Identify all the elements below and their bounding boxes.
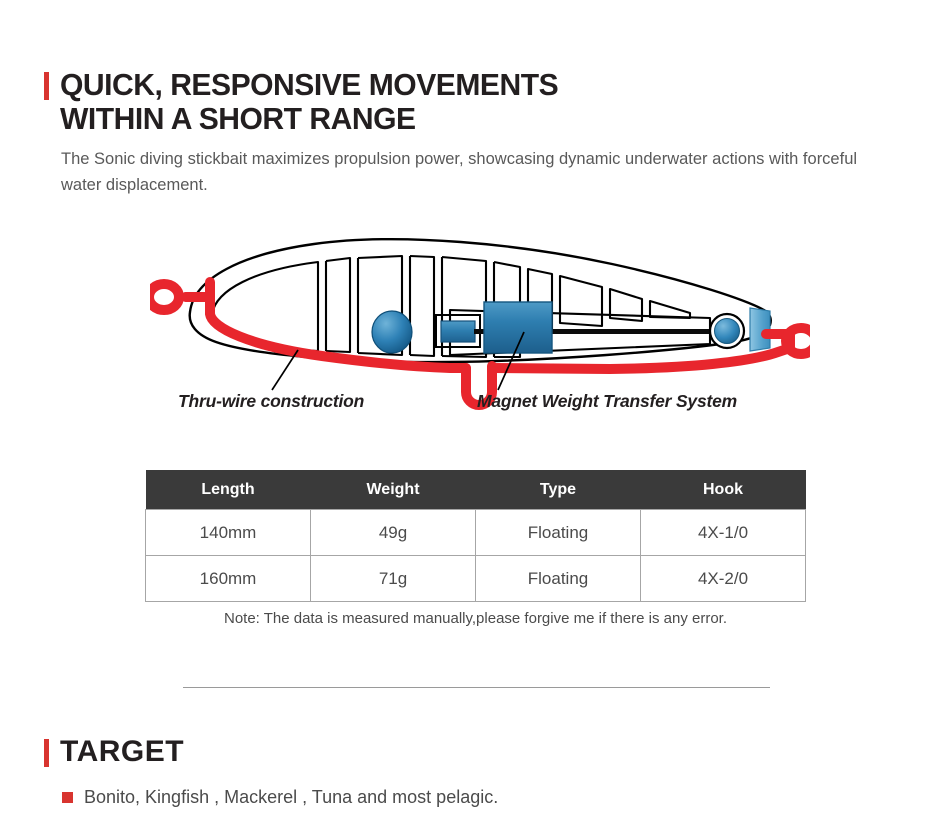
red-accent-bar (44, 739, 49, 767)
feature-subtitle: The Sonic diving stickbait maximizes pro… (61, 146, 861, 198)
red-accent-bar (44, 72, 49, 100)
callout-thru-wire-label: Thru-wire construction (178, 391, 364, 412)
column-header-length: Length (146, 470, 311, 510)
cell-hook: 4X-2/0 (641, 556, 806, 602)
cell-length: 160mm (146, 556, 311, 602)
table-row: 140mm 49g Floating 4X-1/0 (146, 510, 806, 556)
callout-magnet-weight-label: Magnet Weight Transfer System (477, 391, 737, 412)
cell-type: Floating (476, 556, 641, 602)
target-heading: TARGET (44, 736, 184, 768)
table-header-row: Length Weight Type Hook (146, 470, 806, 510)
section-divider (183, 687, 770, 688)
target-species-text: Bonito, Kingfish , Mackerel , Tuna and m… (84, 787, 498, 808)
square-bullet-icon (62, 792, 73, 803)
table-row: 160mm 71g Floating 4X-2/0 (146, 556, 806, 602)
table-note: Note: The data is measured manually,plea… (145, 610, 806, 627)
list-item: Bonito, Kingfish , Mackerel , Tuna and m… (62, 787, 498, 808)
cell-length: 140mm (146, 510, 311, 556)
feature-heading: QUICK, RESPONSIVE MOVEMENTS WITHIN A SHO… (44, 68, 574, 136)
target-heading-text: TARGET (60, 736, 184, 768)
specifications-table: Length Weight Type Hook 140mm 49g Floati… (145, 470, 806, 602)
column-header-weight: Weight (311, 470, 476, 510)
target-species-list: Bonito, Kingfish , Mackerel , Tuna and m… (62, 787, 498, 808)
feature-heading-text: QUICK, RESPONSIVE MOVEMENTS WITHIN A SHO… (60, 68, 558, 136)
fixed-ball-weight (372, 311, 412, 353)
cell-weight: 49g (311, 510, 476, 556)
cell-hook: 4X-1/0 (641, 510, 806, 556)
column-header-type: Type (476, 470, 641, 510)
rear-hook-eyelet (786, 328, 810, 354)
cell-weight: 71g (311, 556, 476, 602)
cell-type: Floating (476, 510, 641, 556)
stickbait-cutaway-diagram (150, 222, 810, 417)
front-line-eyelet (150, 284, 179, 310)
column-header-hook: Hook (641, 470, 806, 510)
feature-heading-line-2: WITHIN A SHORT RANGE (60, 102, 558, 136)
rear-ball-weight (710, 314, 744, 348)
feature-heading-line-1: QUICK, RESPONSIVE MOVEMENTS (60, 68, 558, 102)
